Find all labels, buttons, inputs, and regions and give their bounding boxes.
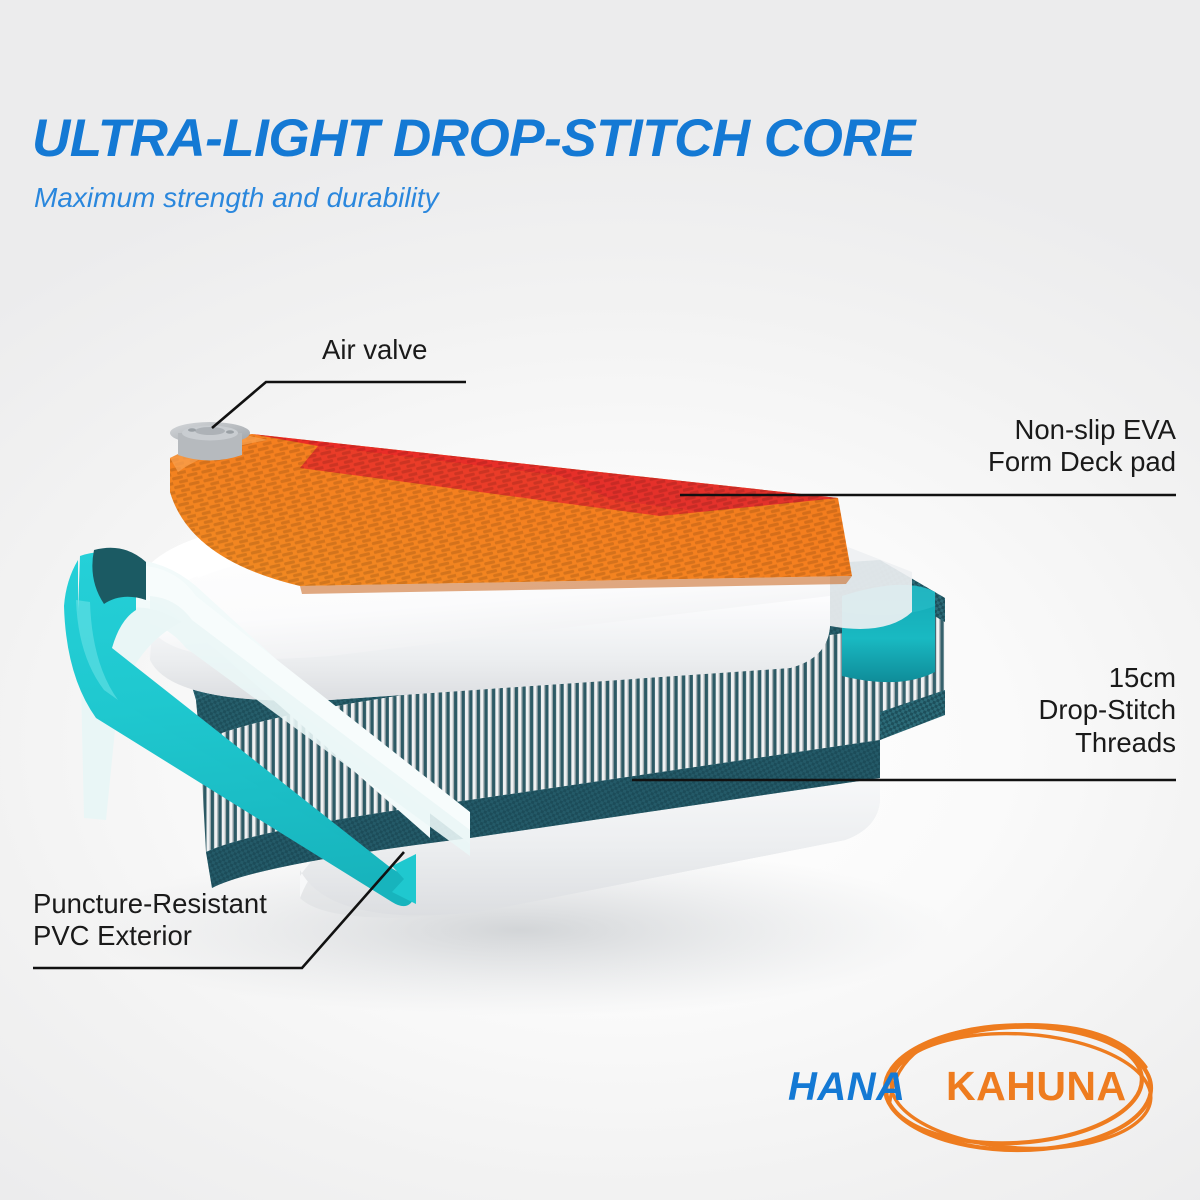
logo-word-hana: HANA [788,1065,906,1110]
eva-deck-pad [170,434,852,594]
logo-word-kahuna: KAHUNA [946,1063,1127,1110]
callout-pvc-exterior: Puncture-Resistant PVC Exterior [33,888,267,953]
air-valve [170,422,250,461]
page-title: ULTRA-LIGHT DROP-STITCH CORE [32,108,915,169]
brand-logo: HANA KAHUNA [780,1005,1180,1185]
callout-air-valve: Air valve [322,334,427,366]
page-subtitle: Maximum strength and durability [34,182,439,214]
callout-eva-deck-pad: Non-slip EVA Form Deck pad [988,414,1176,479]
poster-canvas: ULTRA-LIGHT DROP-STITCH CORE Maximum str… [0,0,1200,1200]
callout-drop-stitch-threads: 15cm Drop-Stitch Threads [1038,662,1176,759]
